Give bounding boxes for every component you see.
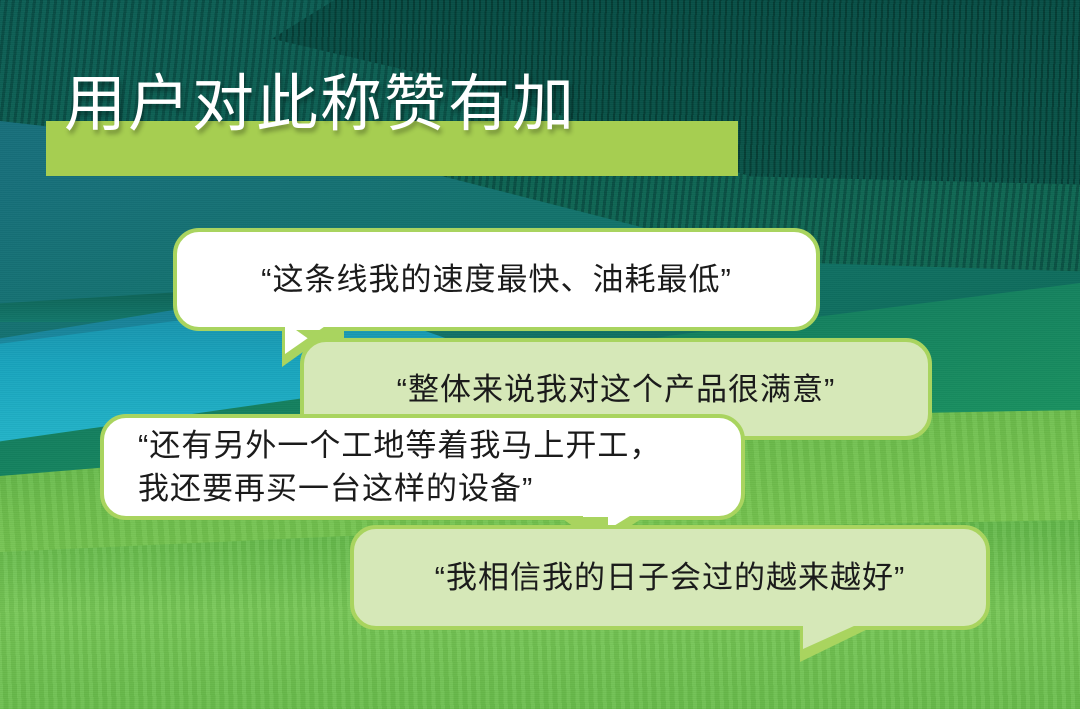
testimonial-3-line-1: “还有另外一个工地等着我马上开工， <box>138 424 707 467</box>
slide-canvas: 用户对此称赞有加 “这条线我的速度最快、油耗最低” “整体来说我对这个产品很满意… <box>0 0 1080 709</box>
headline-block: 用户对此称赞有加 <box>0 0 1080 200</box>
page-title: 用户对此称赞有加 <box>64 70 576 140</box>
testimonial-bubble-4[interactable]: “我相信我的日子会过的越来越好” <box>350 525 990 630</box>
testimonial-3-text: “还有另外一个工地等着我马上开工， 我还要再买一台这样的设备” <box>104 424 741 510</box>
testimonial-2-text: “整体来说我对这个产品很满意” <box>304 368 928 411</box>
quote-4-tail-bottom-fill <box>803 621 865 649</box>
testimonial-bubble-3[interactable]: “还有另外一个工地等着我马上开工， 我还要再买一台这样的设备” <box>100 414 745 520</box>
testimonial-bubble-1[interactable]: “这条线我的速度最快、油耗最低” <box>173 228 820 331</box>
testimonial-4-text: “我相信我的日子会过的越来越好” <box>354 556 986 599</box>
testimonial-1-text: “这条线我的速度最快、油耗最低” <box>177 258 816 301</box>
testimonial-3-line-2: 我还要再买一台这样的设备” <box>138 467 707 510</box>
